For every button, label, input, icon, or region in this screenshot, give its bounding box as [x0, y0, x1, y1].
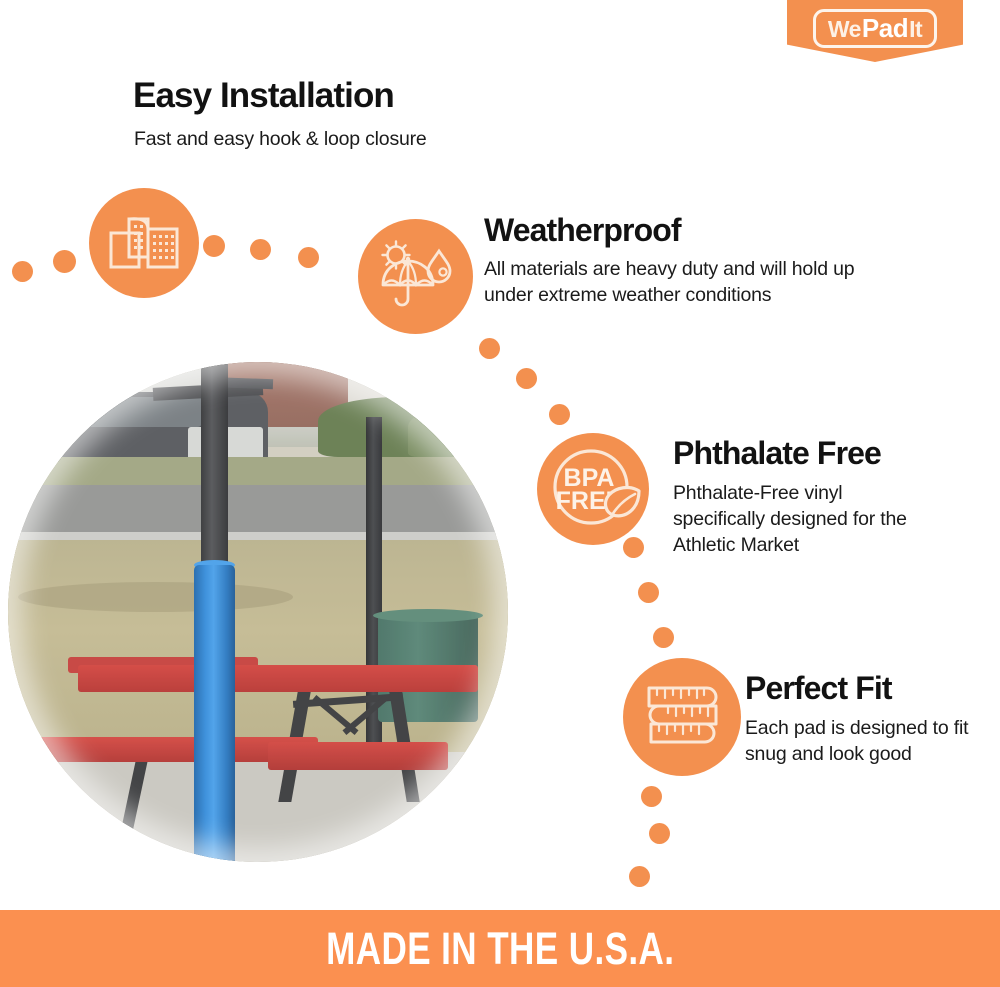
- path-dot: [641, 786, 662, 807]
- logo-text-pad: Pad: [862, 15, 908, 41]
- path-dot: [479, 338, 500, 359]
- feature-description-weatherproof: All materials are heavy duty and will ho…: [484, 256, 904, 308]
- hook-and-loop-icon: [89, 188, 199, 298]
- logo-text-we: We: [828, 18, 861, 41]
- blue-post-pad: [194, 565, 235, 863]
- path-dot: [250, 239, 271, 260]
- logo-text-it: It: [909, 18, 922, 41]
- feature-description-perfect-fit: Each pad is designed to fit snug and loo…: [745, 715, 977, 767]
- feature-description-easy-installation: Fast and easy hook & loop closure: [134, 126, 554, 152]
- brand-logo-wordmark: We Pad It: [813, 9, 937, 48]
- feature-title-phthalate-free: Phthalate Free: [673, 437, 881, 471]
- sun-umbrella-raindrop-icon: [358, 219, 473, 334]
- path-dot: [298, 247, 319, 268]
- product-photo: [8, 362, 508, 862]
- feature-title-easy-installation: Easy Installation: [133, 78, 394, 115]
- path-dot: [653, 627, 674, 648]
- feature-title-perfect-fit: Perfect Fit: [745, 672, 892, 706]
- product-feature-infographic: We Pad It Easy Installation Fast and eas…: [0, 0, 1000, 987]
- feature-title-weatherproof: Weatherproof: [484, 214, 681, 248]
- feature-description-phthalate-free: Phthalate-Free vinyl specifically design…: [673, 480, 935, 558]
- path-dot: [516, 368, 537, 389]
- path-dot: [629, 866, 650, 887]
- path-dot: [623, 537, 644, 558]
- path-dot: [638, 582, 659, 603]
- product-photo-scene: [8, 362, 508, 862]
- measuring-tape-icon: [623, 658, 741, 776]
- bpa-free-leaf-icon: BPA FREE: [537, 433, 649, 545]
- made-in-usa-label: MADE IN THE U.S.A.: [326, 923, 674, 975]
- path-dot: [53, 250, 76, 273]
- path-dot: [649, 823, 670, 844]
- made-in-usa-banner: MADE IN THE U.S.A.: [0, 910, 1000, 987]
- brand-logo-badge[interactable]: We Pad It: [787, 0, 963, 62]
- path-dot: [203, 235, 225, 257]
- path-dot: [12, 261, 33, 282]
- path-dot: [549, 404, 570, 425]
